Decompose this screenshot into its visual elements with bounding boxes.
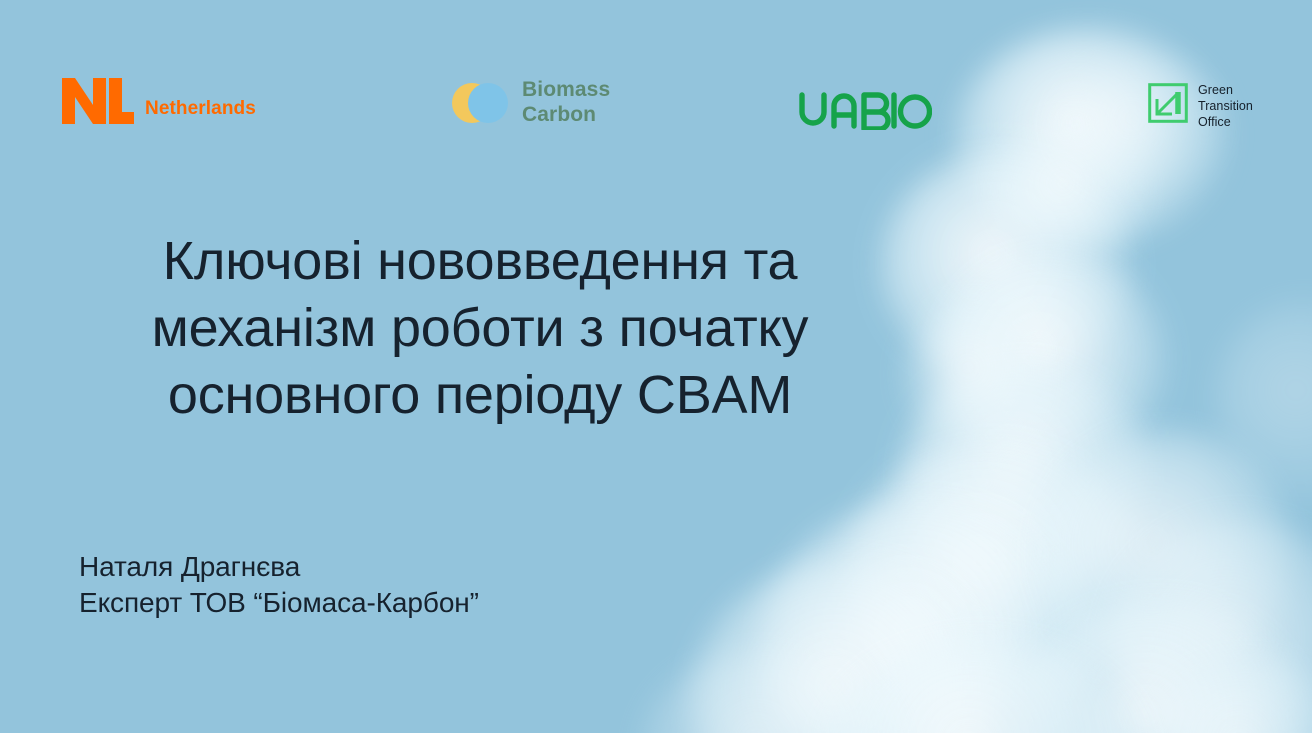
biomass-carbon-wordmark: Biomass Carbon — [522, 78, 610, 127]
biomass-carbon-line2: Carbon — [522, 103, 610, 128]
biomass-carbon-line1: Biomass — [522, 78, 610, 103]
netherlands-wordmark: Netherlands — [145, 98, 256, 120]
logo-biomass-carbon: Biomass Carbon — [449, 78, 610, 127]
logo-netherlands: Netherlands — [62, 76, 256, 126]
biomass-carbon-circles-icon — [449, 80, 511, 126]
netherlands-nl-monogram-icon — [62, 76, 134, 126]
presenter-role: Експерт ТОВ “Біомаса-Карбон” — [79, 585, 479, 621]
gto-line2: Transition — [1198, 98, 1253, 114]
logo-green-transition-office: Green Transition Office — [1148, 83, 1253, 130]
slide-title-block: Ключові нововведення та механізм роботи … — [60, 228, 900, 429]
title-line-3: основного періоду CBAM — [168, 365, 792, 425]
presentation-title-slide: Netherlands Biomass Carbon — [0, 0, 1312, 733]
presenter-name: Наталя Драгнєва — [79, 549, 479, 585]
gto-line1: Green — [1198, 82, 1253, 98]
title-line-2: механізм роботи з початку — [152, 298, 809, 358]
presenter-block: Наталя Драгнєва Експерт ТОВ “Біомаса-Кар… — [79, 549, 479, 622]
green-transition-office-wordmark: Green Transition Office — [1198, 82, 1253, 130]
logo-uabio — [798, 90, 932, 130]
gto-line3: Office — [1198, 114, 1253, 130]
uabio-wordmark-icon — [798, 90, 932, 130]
partner-logo-bar: Netherlands Biomass Carbon — [0, 0, 1312, 170]
title-line-1: Ключові нововведення та — [163, 231, 798, 291]
green-transition-arrow-icon — [1148, 83, 1188, 123]
page-title: Ключові нововведення та механізм роботи … — [60, 228, 900, 429]
